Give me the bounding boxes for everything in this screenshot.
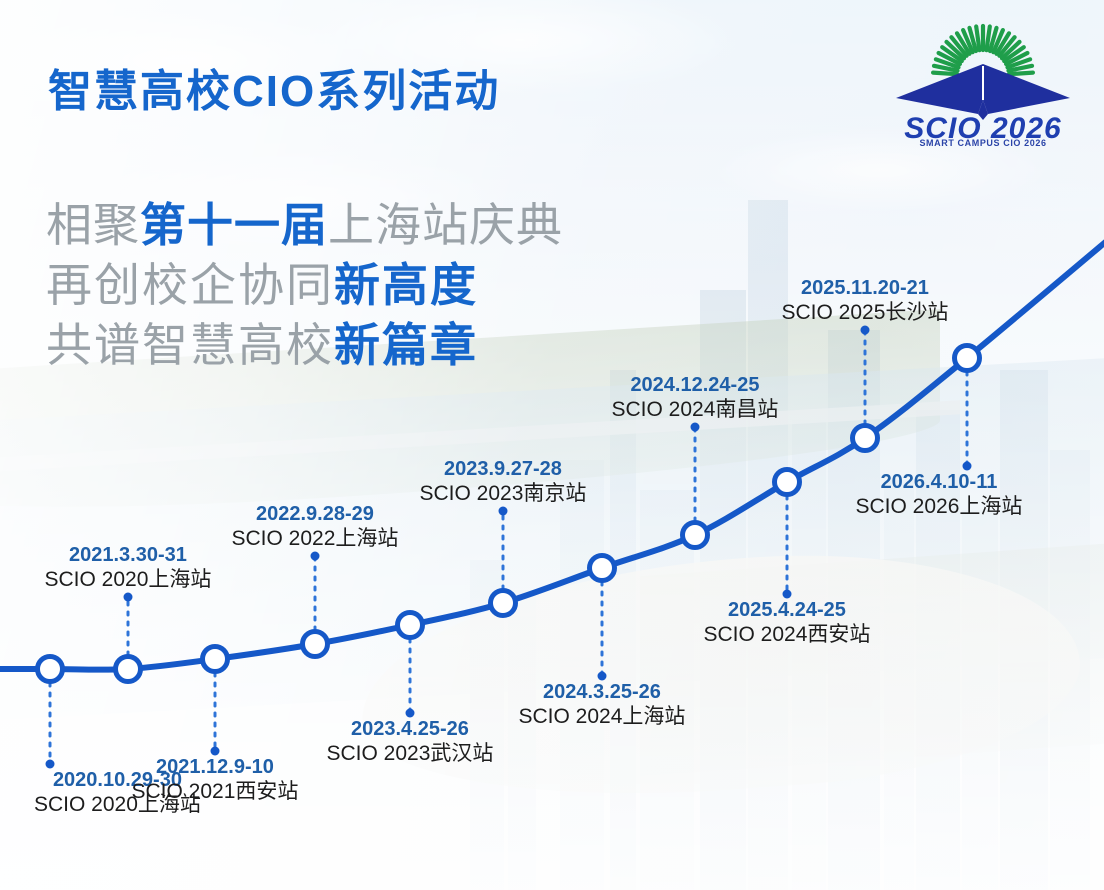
timeline-label-place: SCIO 2021西安站 xyxy=(132,779,299,805)
timeline-label-date: 2023.4.25-26 xyxy=(327,717,494,741)
timeline-label: 2025.11.20-21SCIO 2025长沙站 xyxy=(782,276,949,326)
timeline-label-date: 2024.12.24-25 xyxy=(612,373,779,397)
timeline-label: 2024.12.24-25SCIO 2024南昌站 xyxy=(612,373,779,423)
timeline-node[interactable] xyxy=(38,657,63,682)
timeline-node[interactable] xyxy=(590,556,615,581)
timeline-node[interactable] xyxy=(491,591,516,616)
timeline-node[interactable] xyxy=(775,470,800,495)
timeline-node[interactable] xyxy=(303,632,328,657)
timeline-label-place: SCIO 2023武汉站 xyxy=(327,741,494,767)
timeline-label-place: SCIO 2022上海站 xyxy=(232,526,399,552)
timeline-label: 2021.12.9-10SCIO 2021西安站 xyxy=(132,755,299,805)
timeline-label: 2023.4.25-26SCIO 2023武汉站 xyxy=(327,717,494,767)
timeline-node[interactable] xyxy=(116,657,141,682)
timeline-label-place: SCIO 2020上海站 xyxy=(45,567,212,593)
timeline-label-date: 2021.3.30-31 xyxy=(45,543,212,567)
timeline-label: 2024.3.25-26SCIO 2024上海站 xyxy=(519,680,686,730)
timeline-node[interactable] xyxy=(683,523,708,548)
timeline-label-place: SCIO 2024南昌站 xyxy=(612,397,779,423)
timeline-label-date: 2021.12.9-10 xyxy=(132,755,299,779)
timeline-label-date: 2026.4.10-11 xyxy=(856,470,1023,494)
timeline-label-place: SCIO 2025长沙站 xyxy=(782,300,949,326)
timeline-label: 2025.4.24-25SCIO 2024西安站 xyxy=(704,598,871,648)
timeline-stem-tip xyxy=(311,552,320,561)
timeline-node[interactable] xyxy=(853,426,878,451)
timeline-label-date: 2024.3.25-26 xyxy=(519,680,686,704)
timeline-node[interactable] xyxy=(398,613,423,638)
timeline-label-date: 2025.11.20-21 xyxy=(782,276,949,300)
timeline-label-date: 2023.9.27-28 xyxy=(420,457,587,481)
timeline-label-place: SCIO 2024上海站 xyxy=(519,704,686,730)
timeline-label: 2026.4.10-11SCIO 2026上海站 xyxy=(856,470,1023,520)
timeline-label-place: SCIO 2023南京站 xyxy=(420,481,587,507)
timeline-label: 2022.9.28-29SCIO 2022上海站 xyxy=(232,502,399,552)
timeline-label: 2021.3.30-31SCIO 2020上海站 xyxy=(45,543,212,593)
timeline-label: 2023.9.27-28SCIO 2023南京站 xyxy=(420,457,587,507)
timeline-label-date: 2025.4.24-25 xyxy=(704,598,871,622)
timeline-stem-tip xyxy=(499,507,508,516)
timeline-label-place: SCIO 2024西安站 xyxy=(704,622,871,648)
timeline-label-date: 2022.9.28-29 xyxy=(232,502,399,526)
timeline-stem-tip xyxy=(124,593,133,602)
timeline-node[interactable] xyxy=(955,346,980,371)
poster-canvas: 智慧高校CIO系列活动 相聚第十一届上海站庆典 再创校企协同新高度 共谱智慧高校… xyxy=(0,0,1104,890)
timeline-stem-tip xyxy=(861,326,870,335)
timeline-stem-tip xyxy=(691,423,700,432)
timeline-node[interactable] xyxy=(203,647,228,672)
timeline-label-place: SCIO 2026上海站 xyxy=(856,494,1023,520)
